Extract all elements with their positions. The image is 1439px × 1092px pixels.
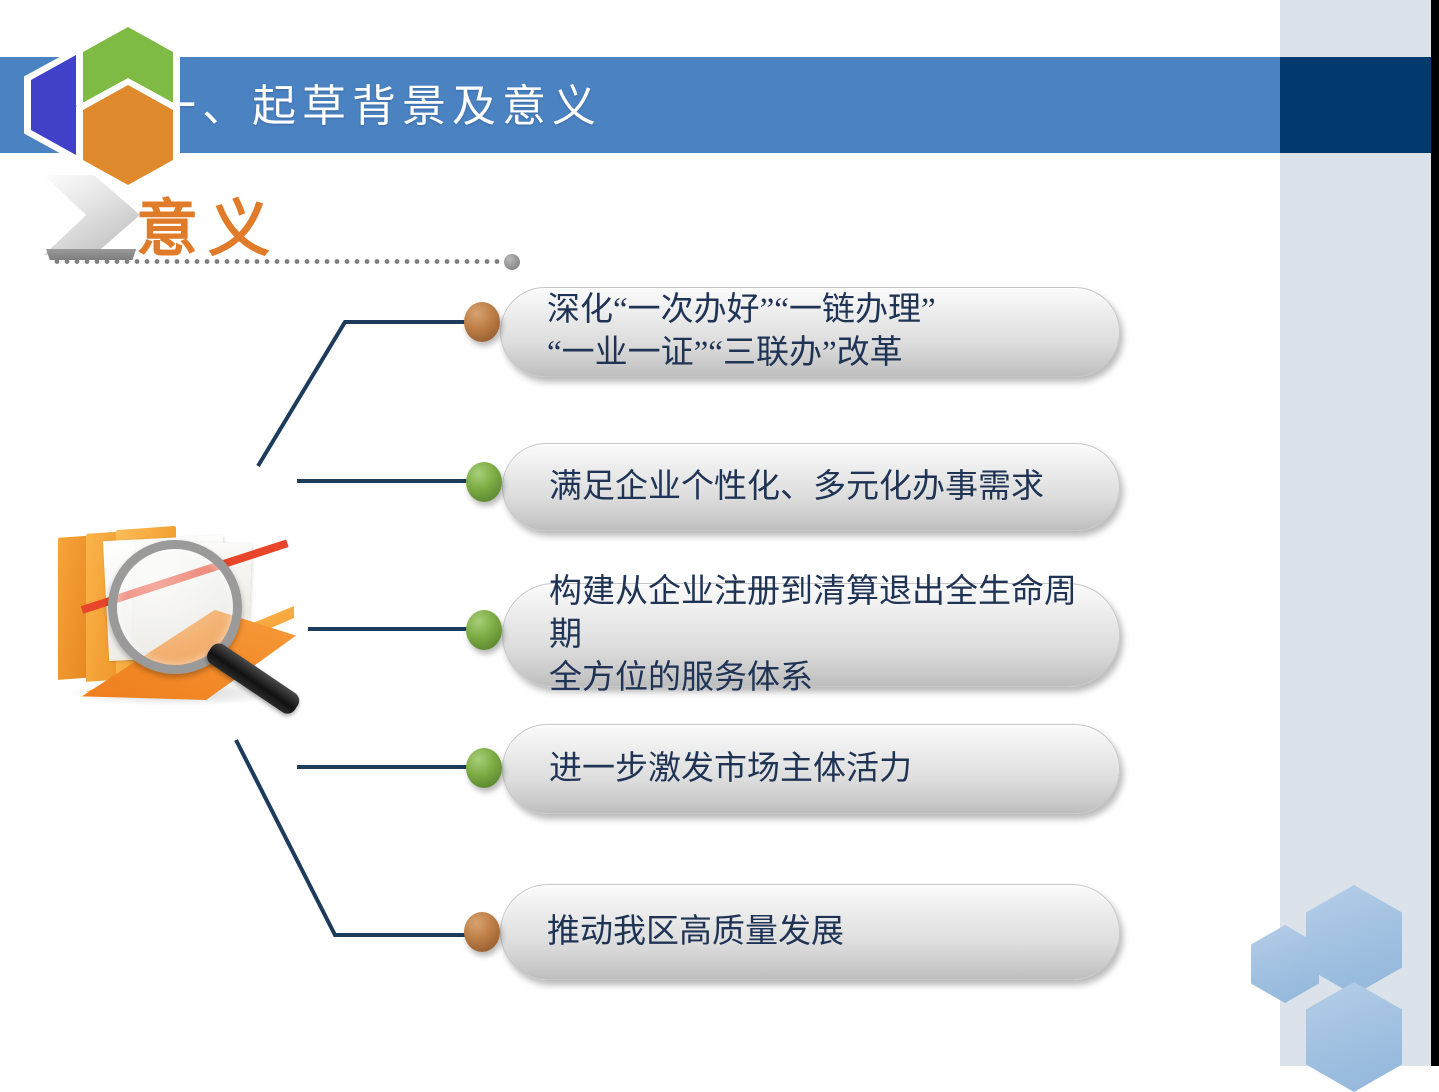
list-item-label: 构建从企业注册到清算退出全生命周期 全方位的服务体系 <box>503 571 1119 700</box>
marker-sphere-brown <box>464 912 500 952</box>
divider-end-dot <box>504 254 520 270</box>
marker-sphere-brown <box>464 302 500 342</box>
list-item[interactable]: 构建从企业注册到清算退出全生命周期 全方位的服务体系 <box>502 583 1120 687</box>
list-item-label: 满足企业个性化、多元化办事需求 <box>503 466 1068 509</box>
right-edge-strip <box>1431 0 1439 1066</box>
list-item-label: 进一步激发市场主体活力 <box>503 748 936 791</box>
marker-sphere-green <box>466 462 502 502</box>
sub-heading: 意义 <box>136 178 280 268</box>
page-title: 一、起草背景及意义 <box>152 70 602 134</box>
list-item-label: 推动我区高质量发展 <box>501 911 868 954</box>
navy-accent-band <box>1280 57 1432 153</box>
marker-sphere-green <box>466 610 502 650</box>
marker-sphere-green <box>466 748 502 788</box>
list-item-label: 深化“一次办好”“一链办理” “一业一证”“三联办”改革 <box>501 289 960 375</box>
list-item[interactable]: 进一步激发市场主体活力 <box>502 724 1120 814</box>
dotted-divider <box>52 258 508 265</box>
list-item[interactable]: 深化“一次办好”“一链办理” “一业一证”“三联办”改革 <box>500 287 1120 377</box>
list-item[interactable]: 满足企业个性化、多元化办事需求 <box>502 443 1120 531</box>
list-item[interactable]: 推动我区高质量发展 <box>500 884 1120 980</box>
slide-canvas: 一、起草背景及意义 意义 <box>0 0 1439 1066</box>
folders-magnifier-icon <box>48 520 318 715</box>
